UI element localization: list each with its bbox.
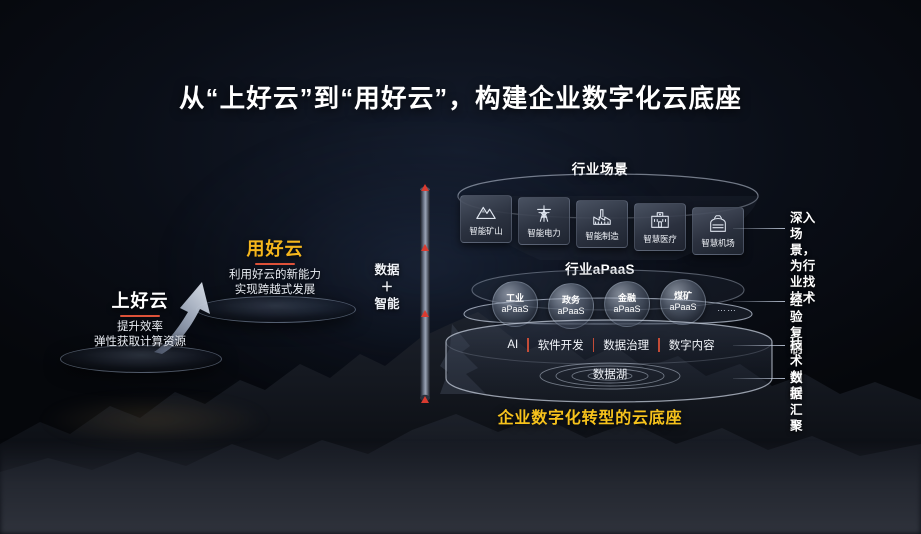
group-yonghaoyun: 用好云 利用好云的新能力 实现跨越式发展 <box>192 238 358 298</box>
scene-card-healthcare[interactable]: 智慧医疗 <box>634 203 686 251</box>
background-warm-glow <box>40 395 270 445</box>
page-title: 从“上好云”到“用好云”，构建企业数字化云底座 <box>0 78 921 115</box>
base-item-software-dev[interactable]: 软件开发 <box>529 337 593 353</box>
mountain-icon <box>475 201 497 223</box>
apaas-sphere-en: aPaaS <box>669 302 696 313</box>
shanghaoyun-sub-2: 弹性获取计算资源 <box>55 335 225 350</box>
axis-label: 数据 ＋ 智能 <box>363 262 411 313</box>
yonghaoyun-sub-1: 利用好云的新能力 <box>192 268 358 283</box>
scene-card-label: 智能制造 <box>585 230 618 242</box>
scene-card-power[interactable]: 智能电力 <box>518 197 570 245</box>
base-item-data-governance[interactable]: 数据治理 <box>594 337 658 353</box>
axis-label-line3: 智能 <box>363 296 411 313</box>
hospital-icon <box>649 209 671 231</box>
callout-connector-line <box>733 228 785 229</box>
base-item-digital-content[interactable]: 数字内容 <box>660 337 724 353</box>
power-tower-icon <box>533 203 555 225</box>
group-shanghaoyun: 上好云 提升效率 弹性获取计算资源 <box>55 290 225 350</box>
apaas-sphere-zh: 金融 <box>618 293 636 304</box>
airport-icon <box>707 213 729 235</box>
slide-canvas: 从“上好云”到“用好云”，构建企业数字化云底座 上好云 提升效率 弹性获取计算资… <box>0 0 921 534</box>
callout-connector-line <box>733 345 785 346</box>
base-item-ai[interactable]: AI <box>498 339 527 351</box>
cloud-sea <box>0 442 921 534</box>
apaas-sphere-zh: 工业 <box>506 293 524 304</box>
scene-card-label: 智慧医疗 <box>643 233 676 245</box>
data-lake-ripple-group: 数据湖 <box>520 358 700 392</box>
apaas-sphere-en: aPaaS <box>613 304 640 315</box>
base-separator <box>658 338 660 352</box>
yonghaoyun-sub-2: 实现跨越式发展 <box>192 283 358 298</box>
axis-label-line1: 数据 <box>363 262 411 279</box>
callout-connector-line <box>733 378 785 379</box>
shanghaoyun-rule <box>120 315 160 317</box>
scene-card-label: 智慧机场 <box>701 237 734 249</box>
scene-card-list: 智能矿山 智能电力 <box>455 193 765 255</box>
yonghaoyun-rule <box>255 263 295 265</box>
base-separator <box>527 338 529 352</box>
yonghaoyun-heading: 用好云 <box>192 238 358 260</box>
scene-card-airport[interactable]: 智慧机场 <box>692 207 744 255</box>
scene-card-manufacturing[interactable]: 智能制造 <box>576 200 628 248</box>
callout-text: 数据汇聚 <box>790 370 803 434</box>
vertical-pillar-icon <box>414 182 436 406</box>
factory-icon <box>591 206 613 228</box>
axis-label-line2: ＋ <box>363 279 411 296</box>
scene-card-label: 智能电力 <box>527 227 560 239</box>
base-capability-row: AI 软件开发 数据治理 数字内容 <box>470 337 752 353</box>
apaas-sphere-zh: 煤矿 <box>674 291 692 302</box>
callout-text: 深入场景， 为行业找技术 <box>790 210 816 306</box>
base-separator <box>593 338 595 352</box>
scene-card-label: 智能矿山 <box>469 225 502 237</box>
scene-card-mining[interactable]: 智能矿山 <box>460 195 512 243</box>
shanghaoyun-sub-1: 提升效率 <box>55 320 225 335</box>
callout-connector-line <box>733 301 785 302</box>
apaas-sphere-zh: 政务 <box>562 295 580 306</box>
apaas-ellipsis: …… <box>717 303 737 313</box>
gold-caption: 企业数字化转型的云底座 <box>440 404 740 428</box>
apaas-sphere-en: aPaaS <box>501 304 528 315</box>
data-lake-label: 数据湖 <box>520 366 700 382</box>
